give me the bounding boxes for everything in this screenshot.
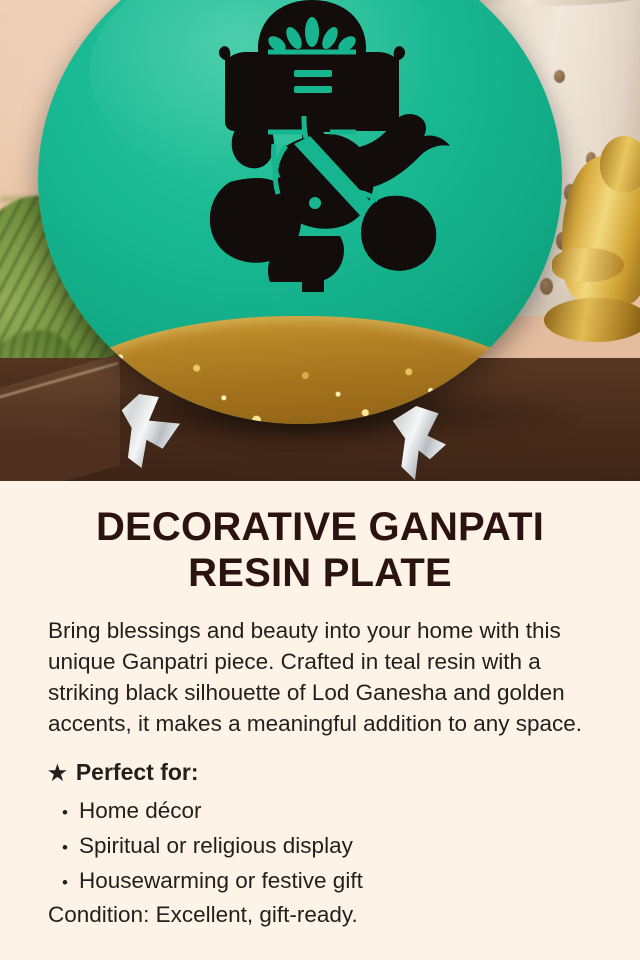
product-title: DECORATIVE GANPATI RESIN PLATE xyxy=(44,481,596,596)
gold-glitter-band xyxy=(38,316,562,424)
list-item-label: Home décor xyxy=(79,794,202,829)
ganesha-silhouette-icon xyxy=(182,0,482,296)
benefit-list: • Home décor • Spiritual or religious di… xyxy=(44,794,596,898)
listing-info-panel: DECORATIVE GANPATI RESIN PLATE Bring ble… xyxy=(0,481,640,960)
buddha-head xyxy=(600,136,640,192)
perfect-for-label: Perfect for: xyxy=(76,759,199,786)
product-title-line-1: DECORATIVE GANPATI xyxy=(96,505,544,549)
bullet-icon: • xyxy=(62,839,68,856)
product-description: Bring blessings and beauty into your hom… xyxy=(48,616,596,739)
list-item: • Spiritual or religious display xyxy=(62,829,596,864)
perfect-for-heading: ★ Perfect for: xyxy=(48,759,596,786)
list-item: • Home décor xyxy=(62,794,596,829)
bullet-icon: • xyxy=(62,804,68,821)
teal-resin-plate xyxy=(38,0,562,424)
product-listing-card: DECORATIVE GANPATI RESIN PLATE Bring ble… xyxy=(0,0,640,960)
condition-text: Condition: Excellent, gift-ready. xyxy=(48,900,596,929)
list-item-label: Spiritual or religious display xyxy=(79,829,353,864)
list-item-label: Housewarming or festive gift xyxy=(79,864,363,899)
buddha-base xyxy=(544,298,640,342)
vase-hole-icon xyxy=(554,70,565,83)
star-icon: ★ xyxy=(48,763,67,784)
product-photo xyxy=(0,0,640,481)
buddha-arm xyxy=(552,248,624,282)
bullet-icon: • xyxy=(62,874,68,891)
list-item: • Housewarming or festive gift xyxy=(62,864,596,899)
product-title-line-2: RESIN PLATE xyxy=(188,551,452,595)
